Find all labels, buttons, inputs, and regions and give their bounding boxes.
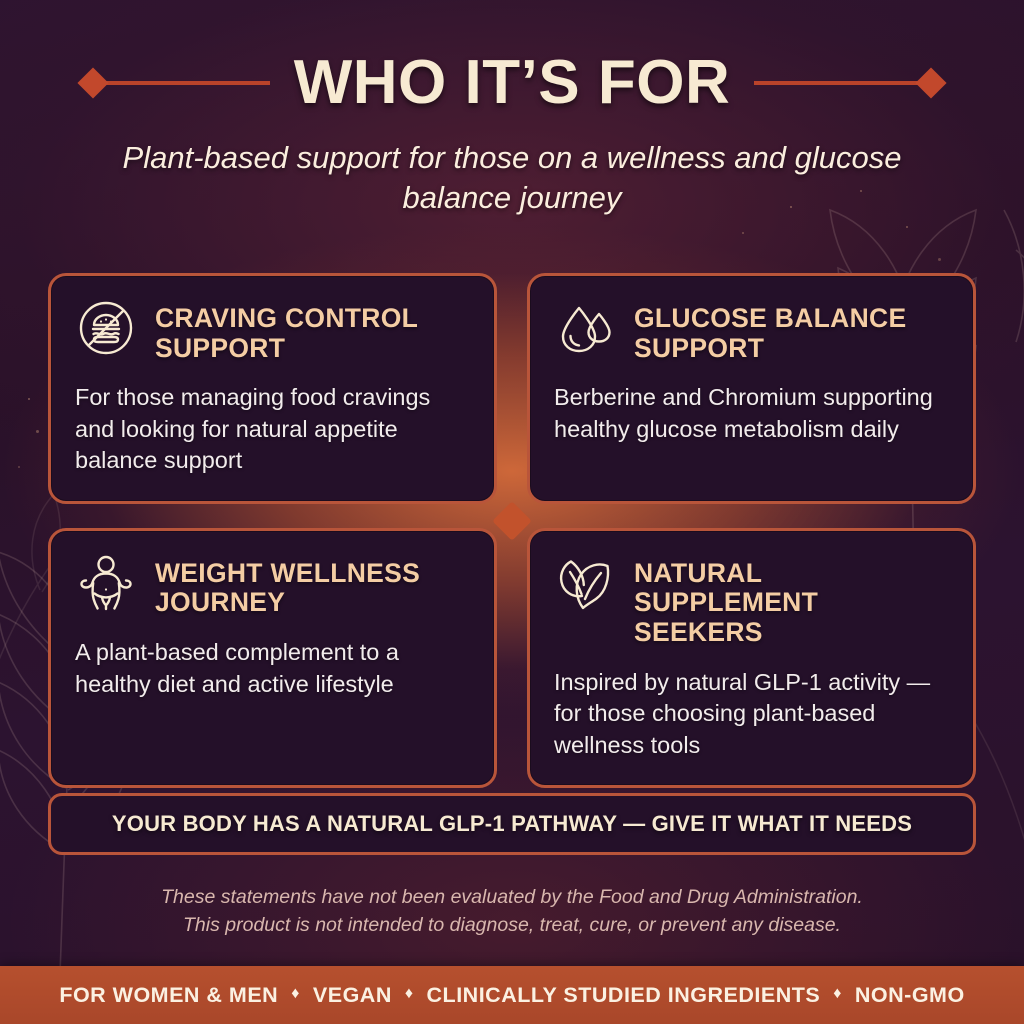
page-title: WHO IT’S FOR	[270, 52, 755, 114]
footer-separator-diamond-icon: ♦	[405, 986, 414, 1002]
card-title: GLUCOSE BALANCE SUPPORT	[634, 299, 947, 363]
disclaimer: These statements have not been evaluated…	[0, 884, 1024, 939]
card-body: For those managing food cravings and loo…	[75, 382, 468, 476]
footer-item-1: VEGAN	[313, 983, 392, 1008]
benefit-card-craving-control: CRAVING CONTROL SUPPORT For those managi…	[48, 273, 497, 504]
water-droplets-icon	[554, 297, 616, 359]
benefit-card-natural-supplement: NATURAL SUPPLEMENT SEEKERS Inspired by n…	[527, 528, 976, 788]
card-body: Berberine and Chromium supporting health…	[554, 382, 947, 445]
card-body: Inspired by natural GLP-1 activity — for…	[554, 667, 947, 761]
infographic-poster: WHO IT’S FOR Plant-based support for tho…	[0, 0, 1024, 1024]
card-head: NATURAL SUPPLEMENT SEEKERS	[554, 554, 947, 648]
disclaimer-line-1: These statements have not been evaluated…	[74, 884, 950, 912]
title-rule-right	[754, 81, 922, 85]
card-title: NATURAL SUPPLEMENT SEEKERS	[634, 554, 947, 648]
body-silhouette-icon	[75, 552, 137, 614]
benefit-card-glucose-balance: GLUCOSE BALANCE SUPPORT Berberine and Ch…	[527, 273, 976, 504]
no-burger-icon	[75, 297, 137, 359]
card-head: GLUCOSE BALANCE SUPPORT	[554, 299, 947, 363]
highlight-banner: YOUR BODY HAS A NATURAL GLP-1 PATHWAY — …	[48, 793, 976, 855]
card-head: WEIGHT WELLNESS JOURNEY	[75, 554, 468, 618]
footer-separator-diamond-icon: ♦	[833, 986, 842, 1002]
title-row: WHO IT’S FOR	[0, 52, 1024, 114]
page-subtitle: Plant-based support for those on a welln…	[0, 138, 1024, 217]
footer-item-3: NON-GMO	[855, 983, 965, 1008]
card-title: WEIGHT WELLNESS JOURNEY	[155, 554, 468, 618]
footer-separator-diamond-icon: ♦	[291, 986, 300, 1002]
two-leaves-icon	[554, 552, 616, 614]
header: WHO IT’S FOR Plant-based support for tho…	[0, 52, 1024, 217]
benefit-card-weight-wellness: WEIGHT WELLNESS JOURNEY A plant-based co…	[48, 528, 497, 788]
title-rule-left	[102, 81, 270, 85]
banner-text: YOUR BODY HAS A NATURAL GLP-1 PATHWAY — …	[112, 811, 912, 837]
card-head: CRAVING CONTROL SUPPORT	[75, 299, 468, 363]
footer-item-2: CLINICALLY STUDIED INGREDIENTS	[427, 983, 821, 1008]
diamond-marker-right-icon	[916, 67, 947, 98]
card-body: A plant-based complement to a healthy di…	[75, 637, 468, 700]
card-title: CRAVING CONTROL SUPPORT	[155, 299, 468, 363]
footer-item-0: FOR WOMEN & MEN	[59, 983, 278, 1008]
disclaimer-line-2: This product is not intended to diagnose…	[74, 912, 950, 940]
footer-bar: FOR WOMEN & MEN ♦ VEGAN ♦ CLINICALLY STU…	[0, 966, 1024, 1024]
footer-claims: FOR WOMEN & MEN ♦ VEGAN ♦ CLINICALLY STU…	[59, 983, 964, 1008]
diamond-marker-left-icon	[77, 67, 108, 98]
